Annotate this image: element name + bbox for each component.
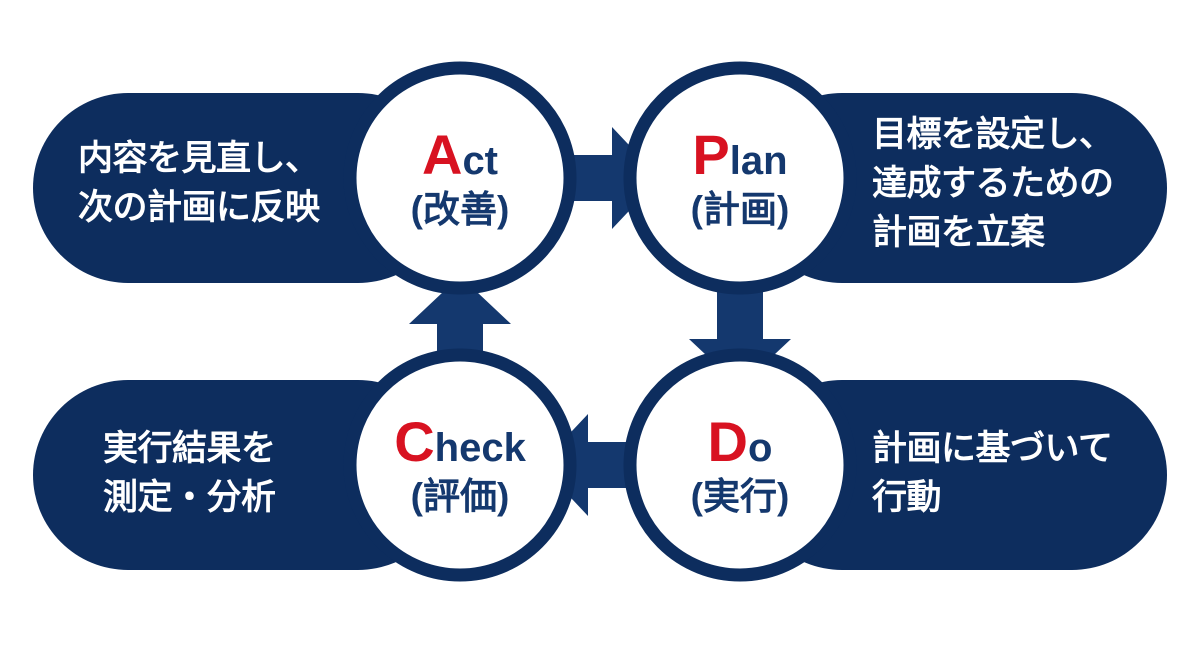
do-description-line-1: 計画に基づいて <box>872 429 1112 468</box>
check-description-line-1: 実行結果を <box>103 429 276 468</box>
act-sublabel: (改善) <box>411 189 510 230</box>
check-sublabel: (評価) <box>411 476 510 517</box>
circle-plan[interactable]: Plan (計画) <box>630 68 850 288</box>
do-rest: o <box>748 426 772 470</box>
check-initial: C <box>394 410 434 473</box>
act-description-line-1: 内容を見直し、 <box>78 139 320 178</box>
act-description-line-2: 次の計画に反映 <box>78 188 320 227</box>
circle-do[interactable]: Do (実行) <box>630 355 850 575</box>
plan-description-line-1: 目標を設定し、 <box>872 115 1114 154</box>
circle-act[interactable]: Act (改善) <box>350 68 570 288</box>
pdca-diagram: 内容を見直し、 次の計画に反映 目標を設定し、 達成するための 計画を立案 実行… <box>0 0 1200 650</box>
plan-sublabel: (計画) <box>691 189 790 230</box>
check-rest: heck <box>435 426 527 470</box>
circle-check[interactable]: Check (評価) <box>350 355 570 575</box>
do-description-line-2: 行動 <box>872 478 941 517</box>
check-description-line-2: 測定・分析 <box>103 478 276 517</box>
plan-initial: P <box>692 123 729 186</box>
do-sublabel: (実行) <box>691 476 790 517</box>
do-initial: D <box>708 410 748 473</box>
plan-description-line-3: 計画を立案 <box>872 213 1046 252</box>
plan-description-line-2: 達成するための <box>872 164 1114 203</box>
act-rest: ct <box>462 139 498 183</box>
pdca-cycle-svg: 内容を見直し、 次の計画に反映 目標を設定し、 達成するための 計画を立案 実行… <box>0 0 1200 650</box>
plan-rest: lan <box>730 139 788 183</box>
act-initial: A <box>422 123 462 186</box>
